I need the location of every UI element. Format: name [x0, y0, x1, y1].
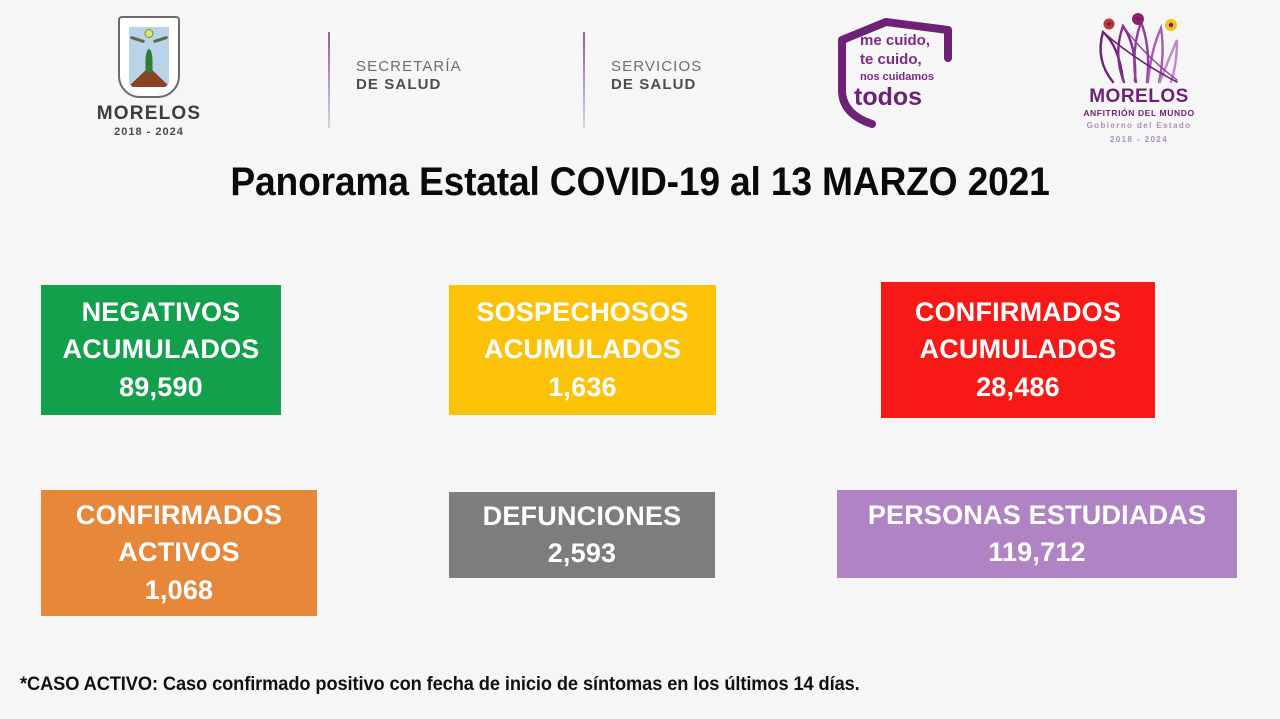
campaign-line-4: todos — [854, 85, 934, 110]
morelos-flower-icon — [1079, 12, 1199, 88]
morelos-state-logo: MORELOS 2018 - 2024 — [93, 16, 205, 138]
secretaria-de-salud-lockup: SECRETARÍA DE SALUD — [356, 58, 462, 93]
campaign-line-1: me cuido, — [860, 32, 934, 51]
secretaria-line-1: SECRETARÍA — [356, 58, 462, 76]
stat-card-label-line2: ACUMULADOS — [63, 331, 260, 368]
stat-card-label-line1: CONFIRMADOS — [76, 497, 282, 534]
servicios-line-1: SERVICIOS — [611, 58, 702, 76]
stat-card-negativos: NEGATIVOS ACUMULADOS 89,590 — [41, 285, 281, 415]
morelos-anfitrion-logo: MORELOS ANFITRIÓN DEL MUNDO Gobierno del… — [1075, 12, 1203, 146]
header-divider-2 — [583, 32, 585, 128]
servicios-line-2: DE SALUD — [611, 76, 702, 94]
stat-card-value: 28,486 — [976, 369, 1060, 406]
anfitrion-logo-subtitle: ANFITRIÓN DEL MUNDO — [1075, 108, 1203, 118]
header-divider-1 — [328, 32, 330, 128]
stat-card-value: 89,590 — [119, 369, 203, 406]
anfitrion-gov-line-1: Gobierno del Estado — [1075, 121, 1203, 132]
anfitrion-gov-line-2: 2018 - 2024 — [1075, 135, 1203, 146]
stat-card-sospechosos: SOSPECHOSOS ACUMULADOS 1,636 — [449, 285, 716, 415]
morelos-logo-years: 2018 - 2024 — [93, 126, 205, 138]
stat-card-confirmados-activos: CONFIRMADOS ACTIVOS 1,068 — [41, 490, 317, 616]
anfitrion-logo-name: MORELOS — [1075, 86, 1203, 108]
header-logo-bar: MORELOS 2018 - 2024 SECRETARÍA DE SALUD … — [0, 0, 1280, 148]
stat-card-label-line1: DEFUNCIONES — [483, 498, 682, 535]
secretaria-line-2: DE SALUD — [356, 76, 462, 94]
stat-card-label-line2: ACTIVOS — [118, 534, 239, 571]
stat-card-label-line1: PERSONAS ESTUDIADAS — [868, 497, 1206, 534]
campaign-line-2: te cuido, — [860, 51, 934, 70]
campaign-badge: me cuido, te cuido, nos cuidamos todos — [820, 18, 958, 130]
stat-card-value: 1,636 — [548, 369, 617, 406]
servicios-de-salud-lockup: SERVICIOS DE SALUD — [611, 58, 702, 93]
stat-card-confirmados-acumulados: CONFIRMADOS ACUMULADOS 28,486 — [881, 282, 1155, 418]
stat-card-value: 119,712 — [988, 534, 1086, 571]
stat-card-value: 1,068 — [145, 572, 214, 609]
footnote-caso-activo: *CASO ACTIVO: Caso confirmado positivo c… — [20, 674, 860, 696]
stat-card-label-line2: ACUMULADOS — [920, 331, 1117, 368]
stat-card-personas-estudiadas: PERSONAS ESTUDIADAS 119,712 — [837, 490, 1237, 578]
stat-card-defunciones: DEFUNCIONES 2,593 — [449, 492, 715, 578]
morelos-coat-of-arms-icon — [118, 16, 180, 98]
morelos-logo-name: MORELOS — [93, 103, 205, 125]
stat-card-label-line1: NEGATIVOS — [82, 294, 241, 331]
stat-card-label-line1: CONFIRMADOS — [915, 294, 1121, 331]
stat-card-value: 2,593 — [548, 535, 617, 572]
campaign-line-3: nos cuidamos — [860, 70, 934, 84]
stat-card-label-line1: SOSPECHOSOS — [476, 294, 688, 331]
stat-card-label-line2: ACUMULADOS — [484, 331, 681, 368]
page-title: Panorama Estatal COVID-19 al 13 MARZO 20… — [45, 160, 1235, 205]
